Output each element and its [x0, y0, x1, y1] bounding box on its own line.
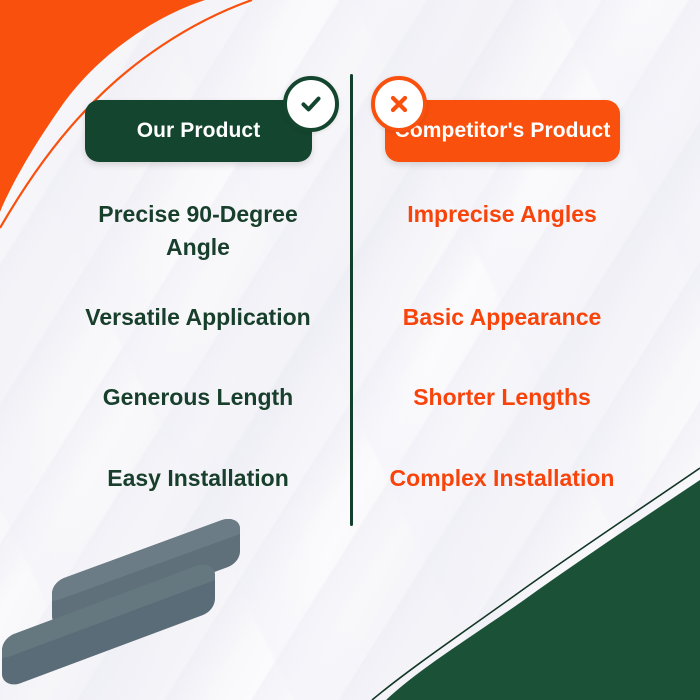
check-circle-icon — [283, 76, 339, 132]
x-circle-icon — [371, 76, 427, 132]
feature-item: Versatile Application — [48, 301, 348, 334]
header-label-competitor-product: Competitor's Product — [395, 119, 611, 143]
feature-item: Generous Length — [48, 381, 348, 414]
header-label-our-product: Our Product — [137, 119, 261, 143]
feature-item: Easy Installation — [48, 462, 348, 495]
feature-item: Complex Installation — [352, 462, 652, 495]
feature-item: Shorter Lengths — [352, 381, 652, 414]
column-divider — [350, 74, 353, 526]
feature-item: Basic Appearance — [352, 301, 652, 334]
comparison-infographic: Our Product Competitor's Product Precise… — [0, 0, 700, 700]
feature-item: Imprecise Angles — [352, 198, 652, 231]
feature-item: Precise 90-Degree Angle — [48, 198, 348, 263]
header-pill-our-product[interactable]: Our Product — [85, 100, 312, 162]
